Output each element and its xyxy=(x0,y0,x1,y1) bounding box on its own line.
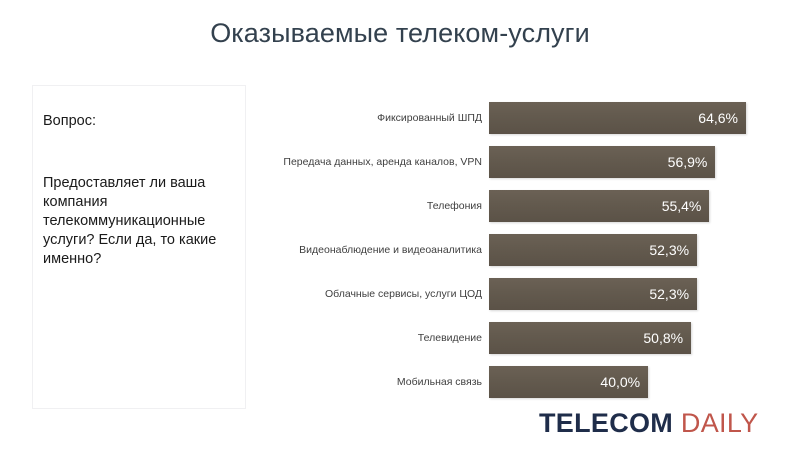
bar-category-label: Видеонаблюдение и видеоаналитика xyxy=(299,234,482,266)
chart-bar-row: Мобильная связь40,0% xyxy=(260,366,780,398)
bar-value-label: 50,8% xyxy=(643,322,683,354)
logo-telecom-text: TELECOM xyxy=(539,408,673,438)
bar-value-label: 52,3% xyxy=(649,234,689,266)
bar-category-label: Облачные сервисы, услуги ЦОД xyxy=(325,278,482,310)
bar: 52,3% xyxy=(489,278,697,310)
bar: 40,0% xyxy=(489,366,648,398)
bar: 56,9% xyxy=(489,146,715,178)
bar-category-label: Мобильная связь xyxy=(397,366,482,398)
bar-category-label: Телевидение xyxy=(418,322,482,354)
bar-category-label: Фиксированный ШПД xyxy=(377,102,482,134)
chart-bar-row: Видеонаблюдение и видеоаналитика52,3% xyxy=(260,234,780,266)
brand-logo: TELECOM DAILY xyxy=(539,408,758,439)
chart-bar-row: Передача данных, аренда каналов, VPN56,9… xyxy=(260,146,780,178)
bar-value-label: 40,0% xyxy=(600,366,640,398)
logo-daily-text: DAILY xyxy=(673,408,758,438)
chart-bar-row: Телевидение50,8% xyxy=(260,322,780,354)
bar-category-label: Передача данных, аренда каналов, VPN xyxy=(283,146,482,178)
bar-value-label: 56,9% xyxy=(668,146,708,178)
slide-root: Оказываемые телеком-услуги Вопрос: Предо… xyxy=(0,0,800,449)
bar-category-label: Телефония xyxy=(427,190,482,222)
bar-value-label: 64,6% xyxy=(698,102,738,134)
chart-bar-row: Фиксированный ШПД64,6% xyxy=(260,102,780,134)
bar: 64,6% xyxy=(489,102,746,134)
bar-value-label: 52,3% xyxy=(649,278,689,310)
chart-bar-row: Телефония55,4% xyxy=(260,190,780,222)
bar-value-label: 55,4% xyxy=(662,190,702,222)
bar-chart: Фиксированный ШПД64,6%Передача данных, а… xyxy=(0,0,800,449)
chart-bar-row: Облачные сервисы, услуги ЦОД52,3% xyxy=(260,278,780,310)
bar: 55,4% xyxy=(489,190,709,222)
bar: 52,3% xyxy=(489,234,697,266)
bar: 50,8% xyxy=(489,322,691,354)
